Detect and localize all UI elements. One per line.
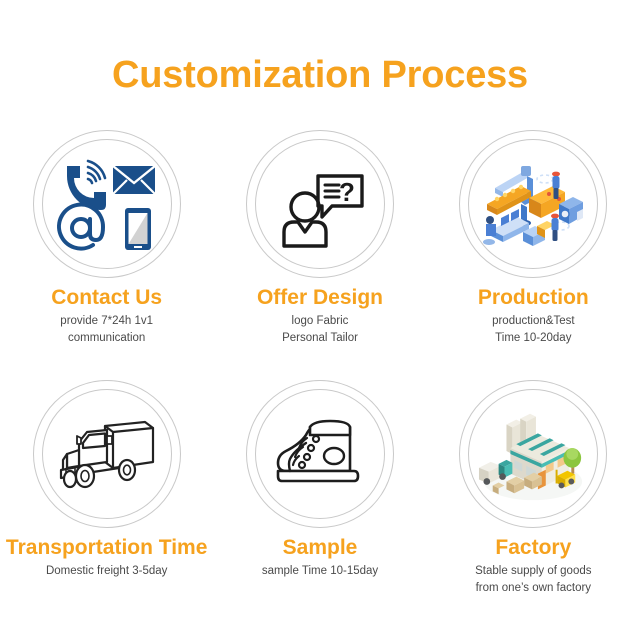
step-sample[interactable]: Sample sample Time 10-15day <box>213 380 426 630</box>
step-title: Contact Us <box>0 286 213 310</box>
truck-icon <box>51 398 163 510</box>
boot-cuff <box>310 421 350 435</box>
step-contact-us[interactable]: Contact Us provide 7*24h 1v1 communicati… <box>0 130 213 380</box>
step-subtitle-line: sample Time 10-15day <box>213 563 426 580</box>
at-sign-icon <box>59 205 103 249</box>
envelope-icon <box>113 166 155 194</box>
step-circle <box>246 380 394 528</box>
truck-hood <box>67 450 79 468</box>
steps-grid: Contact Us provide 7*24h 1v1 communicati… <box>0 130 640 630</box>
step-caption: Contact Us provide 7*24h 1v1 communicati… <box>0 286 213 346</box>
phone-icon <box>67 161 106 210</box>
step-title: Transportation Time <box>0 536 213 560</box>
step-circle <box>33 380 181 528</box>
person-body <box>284 222 326 246</box>
bubble-text-lines <box>325 185 339 197</box>
step-title: Sample <box>213 536 426 560</box>
step-circle <box>459 130 607 278</box>
step-caption: Offer Design logo Fabric Personal Tailor <box>213 286 426 346</box>
production-illustration <box>477 148 589 260</box>
page-title: Customization Process <box>0 0 640 94</box>
boot-sole <box>278 471 358 481</box>
step-title: Offer Design <box>213 286 426 310</box>
step-circle <box>33 130 181 278</box>
step-subtitle-line: communication <box>0 330 213 347</box>
contact-icons <box>51 148 163 260</box>
step-subtitle-line: Stable supply of goods <box>427 563 640 580</box>
person-head <box>291 193 319 221</box>
step-factory[interactable]: Factory Stable supply of goods from one’… <box>427 380 640 630</box>
step-subtitle-line: from one’s own factory <box>427 580 640 597</box>
person-question-icon: ? <box>264 148 376 260</box>
step-caption: Sample sample Time 10-15day <box>213 536 426 580</box>
step-subtitle-line: production&Test <box>427 313 640 330</box>
boot-side-patch <box>324 448 344 464</box>
worker-tablet <box>551 214 559 241</box>
step-subtitle-line: provide 7*24h 1v1 <box>0 313 213 330</box>
step-title: Production <box>427 286 640 310</box>
step-caption: Factory Stable supply of goods from one’… <box>427 536 640 596</box>
question-mark: ? <box>339 177 355 207</box>
step-transportation-time[interactable]: Transportation Time Domestic freight 3-5… <box>0 380 213 630</box>
boot-icon <box>264 398 376 510</box>
smartphone-icon <box>125 208 151 250</box>
step-offer-design[interactable]: ? Offer Design logo Fabric Personal Tail… <box>213 130 426 380</box>
step-circle: ? <box>246 130 394 278</box>
step-production[interactable]: Production production&Test Time 10-20day <box>427 130 640 380</box>
step-caption: Transportation Time Domestic freight 3-5… <box>0 536 213 580</box>
step-title: Factory <box>427 536 640 560</box>
step-subtitle-line: Time 10-20day <box>427 330 640 347</box>
step-subtitle-line: logo Fabric <box>213 313 426 330</box>
factory-illustration <box>477 398 589 510</box>
step-caption: Production production&Test Time 10-20day <box>427 286 640 346</box>
step-subtitle-line: Personal Tailor <box>213 330 426 347</box>
step-subtitle-line: Domestic freight 3-5day <box>0 563 213 580</box>
step-circle <box>459 380 607 528</box>
infographic-page: Customization Process <box>0 0 640 640</box>
